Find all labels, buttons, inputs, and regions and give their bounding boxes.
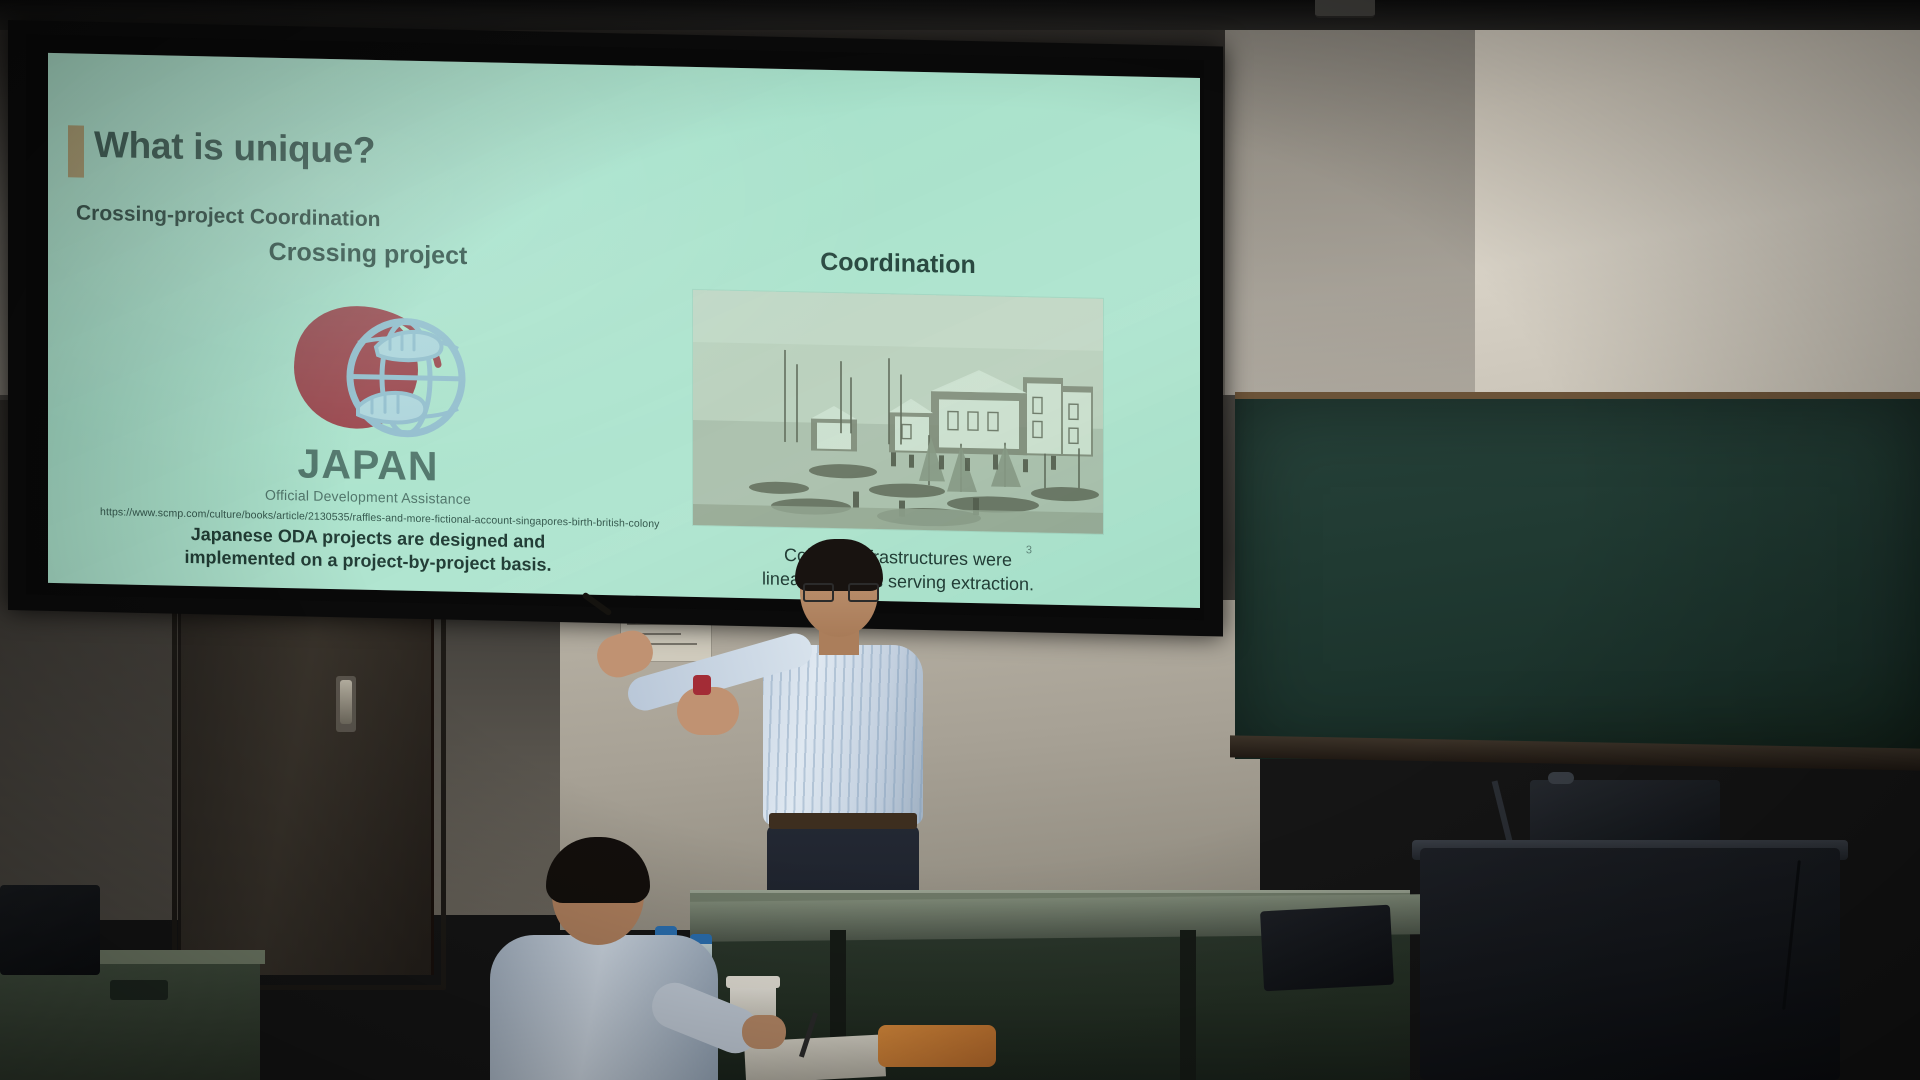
colonial-harbour-engraving <box>693 290 1103 534</box>
attendee-front <box>490 845 720 1080</box>
presentation-slide: What is unique? Crossing-project Coordin… <box>48 53 1200 608</box>
attendee-front-hair <box>546 837 650 903</box>
presenter-wristband <box>693 675 711 695</box>
slide-page-number: 3 <box>1026 544 1032 556</box>
laptop[interactable] <box>0 885 100 975</box>
paper-cup-lid <box>726 976 780 988</box>
chalkboard <box>1235 392 1920 759</box>
lectern[interactable]: ★ <box>1420 848 1840 1080</box>
presenter <box>745 545 945 945</box>
podium-microphone-icon[interactable] <box>1548 772 1574 784</box>
slide-subhead: Crossing-project Coordination <box>76 201 381 232</box>
pencil-pouch[interactable] <box>878 1025 996 1067</box>
projection-screen: What is unique? Crossing-project Coordin… <box>8 20 1223 637</box>
oda-wordmark: JAPAN <box>143 440 593 491</box>
desk-placard <box>110 980 168 1000</box>
title-accent-bar <box>68 125 84 177</box>
room-wall-right-shadow <box>1225 14 1475 404</box>
classroom-door[interactable] <box>178 585 434 975</box>
presenter-belt <box>769 813 917 829</box>
japan-oda-logo-icon <box>238 288 498 444</box>
left-caption: Japanese ODA projects are designed and i… <box>143 522 593 579</box>
slide-title: What is unique? <box>94 124 375 172</box>
lecture-hall-scene: What is unique? Crossing-project Coordin… <box>0 0 1920 1080</box>
tablet-device[interactable] <box>1260 905 1394 992</box>
door-handle[interactable] <box>340 680 352 724</box>
attendee-front-hand <box>742 1015 786 1049</box>
left-column-heading: Crossing project <box>143 235 593 274</box>
presenter-glasses-icon <box>803 583 875 598</box>
ceiling-vent-icon <box>1315 0 1375 18</box>
presenter-shirt-stripes <box>763 645 923 825</box>
right-column-heading: Coordination <box>648 244 1148 284</box>
